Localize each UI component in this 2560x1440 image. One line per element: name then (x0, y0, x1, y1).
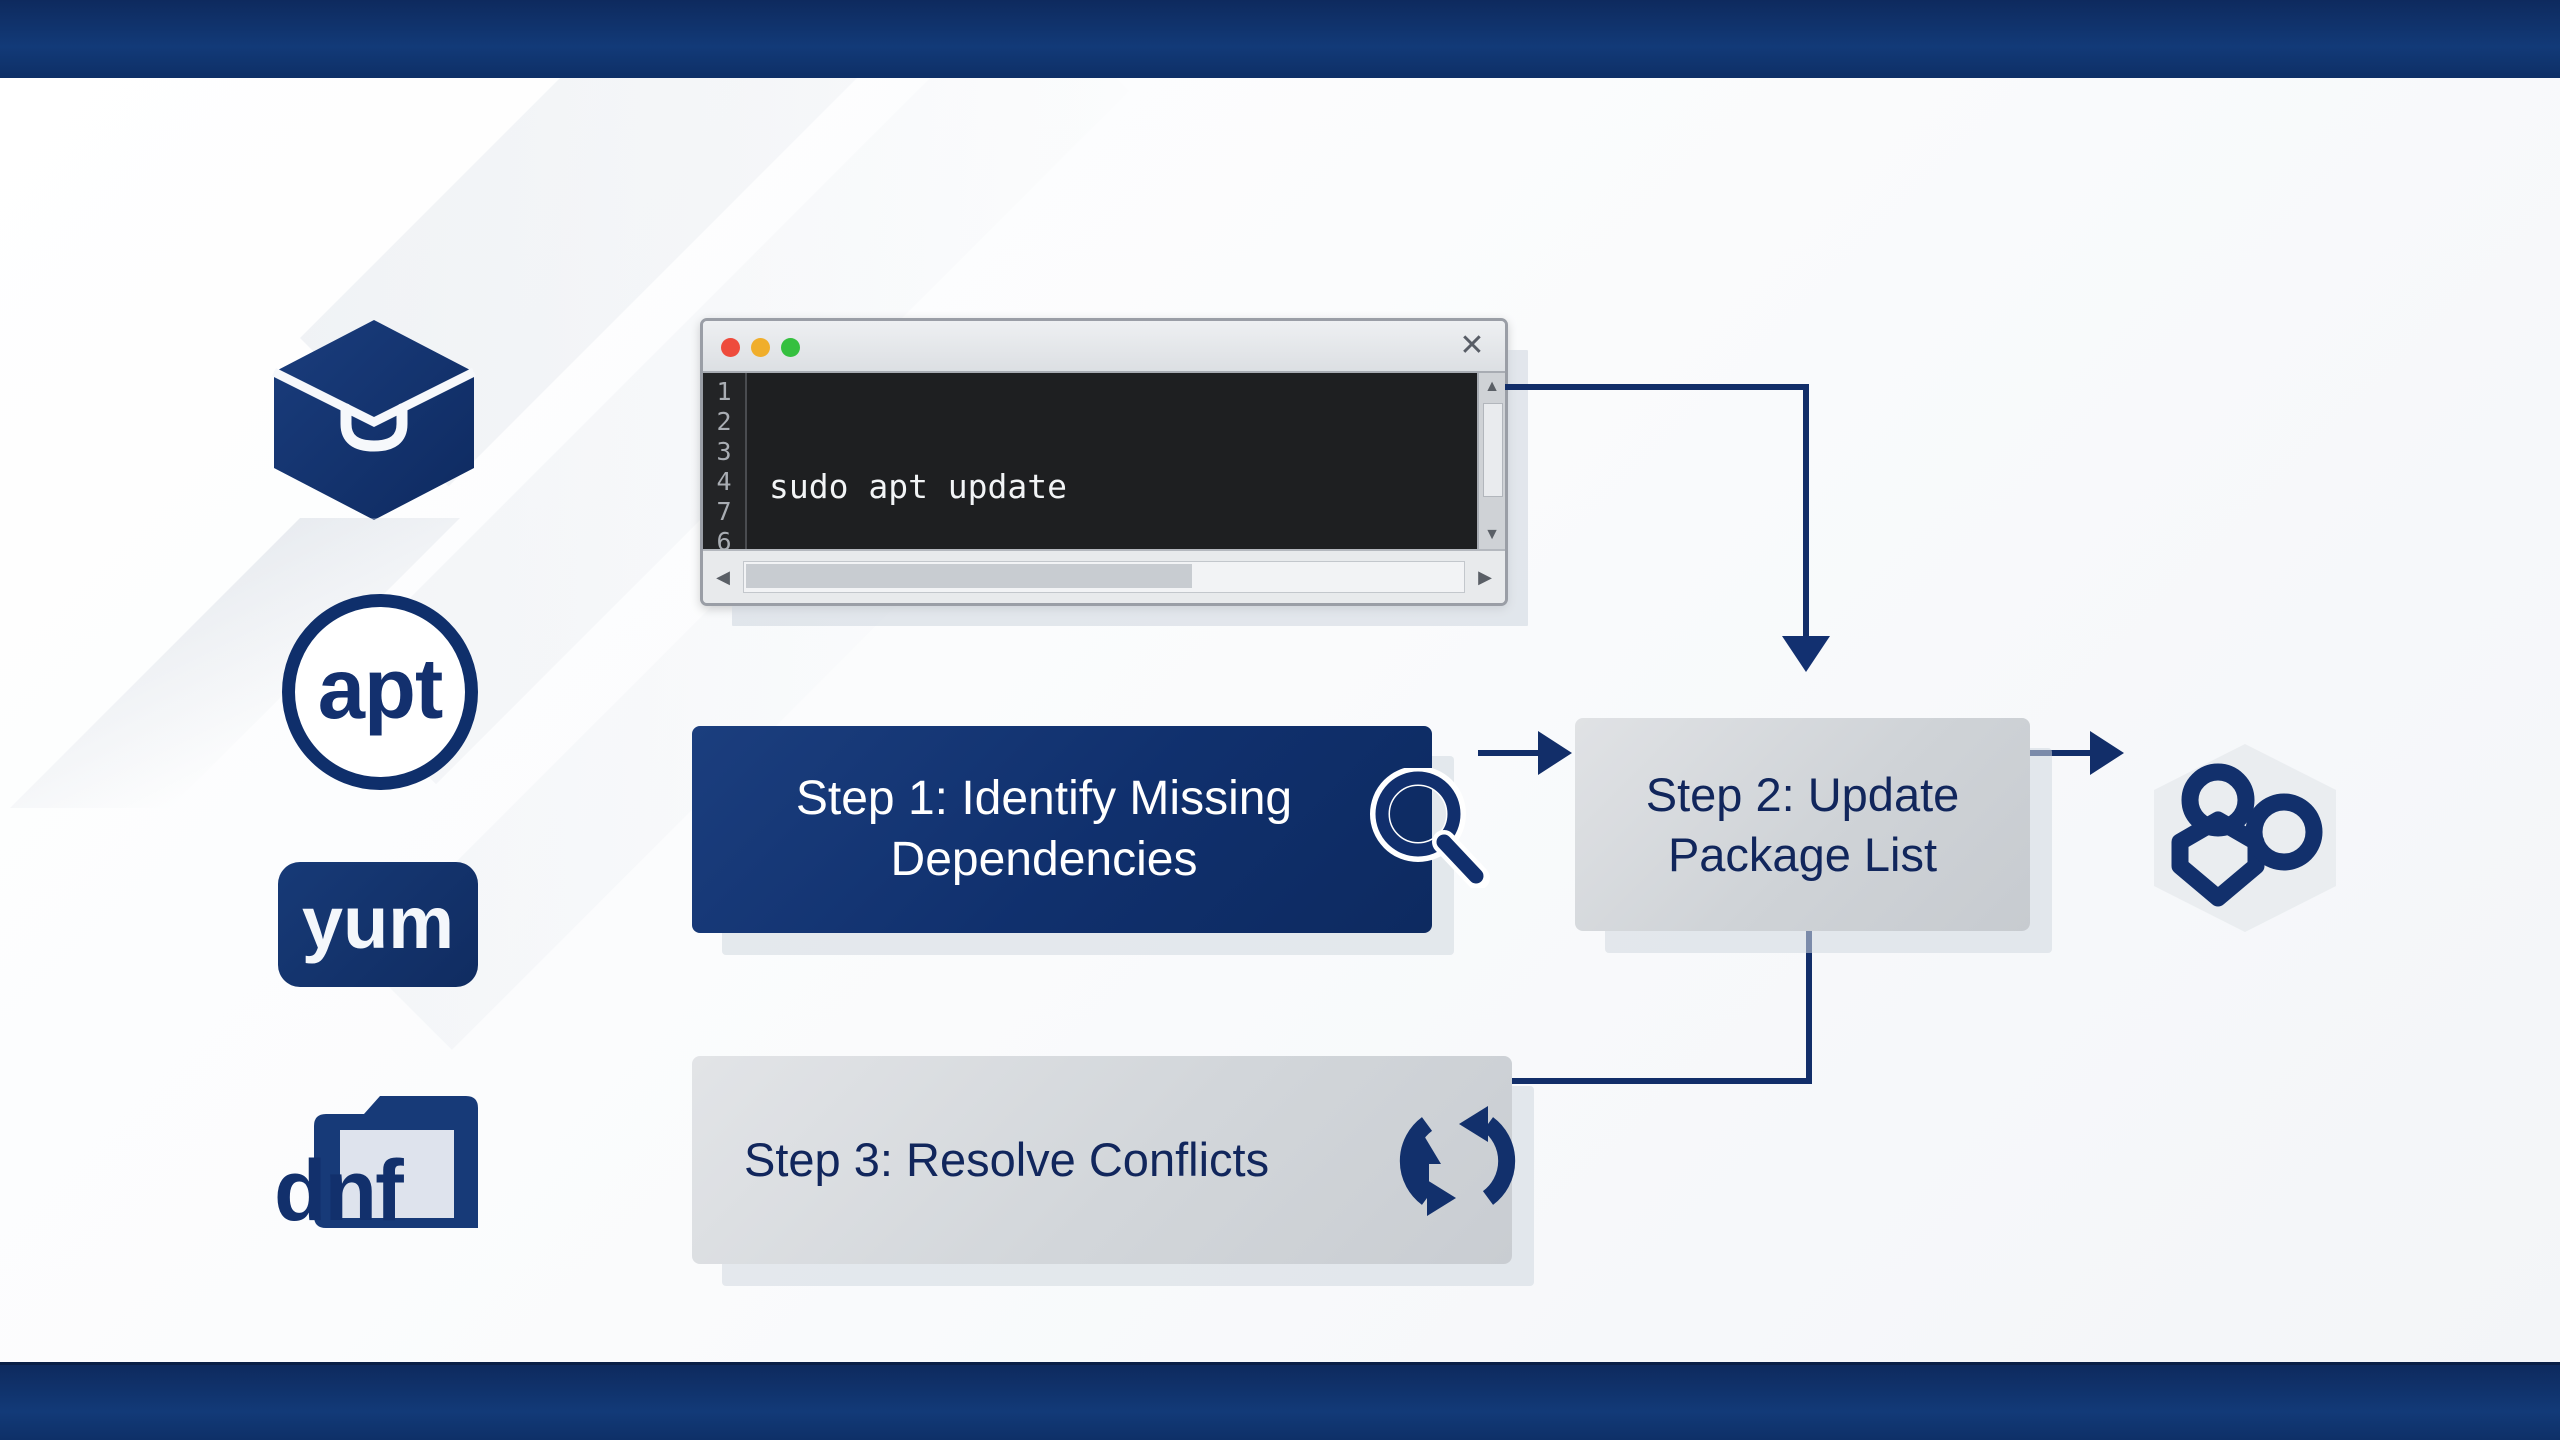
dnf-icon: dnf (268, 1078, 484, 1238)
step-3-label: Step 3: Resolve Conflicts (692, 1130, 1269, 1189)
terminal-window[interactable]: ✕ 1 2 3 4 7 6 sudo apt update sudo apt i… (700, 318, 1508, 606)
line-number: 1 (703, 377, 745, 407)
window-minimize-dot[interactable] (751, 338, 770, 357)
code-editor-area[interactable]: sudo apt update sudo apt install -f ) ) (747, 373, 1505, 549)
terminal-body: 1 2 3 4 7 6 sudo apt update sudo apt ins… (703, 373, 1505, 549)
connector-step3-to-step2-h (1510, 1078, 1812, 1084)
line-number: 6 (703, 527, 745, 549)
code-line-1: sudo apt update (769, 467, 1505, 507)
apt-label: apt (318, 647, 443, 732)
step-1-label: Step 1: Identify Missing Dependencies (692, 769, 1432, 890)
diagram-canvas: apt yum dnf ✕ 1 2 (0, 0, 2560, 1440)
bottom-band (0, 1362, 2560, 1440)
window-maximize-dot[interactable] (781, 338, 800, 357)
code-text: sudo apt update (769, 467, 1067, 506)
step-2-label: Step 2: Update Package List (1575, 765, 2030, 883)
vertical-scrollbar-thumb[interactable] (1483, 403, 1503, 497)
connector-terminal-to-step2-h (1505, 384, 1809, 390)
step-1-box[interactable]: Step 1: Identify Missing Dependencies (692, 726, 1432, 933)
line-number: 3 (703, 437, 745, 467)
scroll-up-icon[interactable]: ▲ (1479, 375, 1505, 399)
refresh-icon (1385, 1088, 1530, 1233)
dnf-label: dnf (274, 1148, 402, 1234)
magnifier-icon (1370, 768, 1490, 888)
line-number: 4 (703, 467, 745, 497)
vertical-scrollbar[interactable]: ▲ ▼ (1477, 373, 1505, 549)
step-2-box[interactable]: Step 2: Update Package List (1575, 718, 2030, 931)
package-box-icon (268, 316, 480, 524)
connector-terminal-to-step2-v (1803, 384, 1809, 642)
line-number-gutter: 1 2 3 4 7 6 (703, 373, 747, 549)
terminal-titlebar[interactable]: ✕ (703, 321, 1505, 373)
apt-icon: apt (282, 594, 478, 790)
scroll-right-icon[interactable]: ▶ (1465, 567, 1505, 588)
yum-icon: yum (278, 862, 478, 987)
scroll-down-icon[interactable]: ▼ (1479, 523, 1505, 547)
line-number: 2 (703, 407, 745, 437)
horizontal-scrollbar[interactable]: ◀ ▶ (703, 549, 1505, 603)
arrowhead-right-step2 (1538, 731, 1572, 775)
close-icon[interactable]: ✕ (1455, 329, 1489, 363)
arrowhead-right-users (2090, 731, 2124, 775)
users-group-icon (2140, 738, 2350, 938)
scroll-left-icon[interactable]: ◀ (703, 567, 743, 588)
arrowhead-down-step2 (1782, 636, 1830, 672)
line-number: 7 (703, 497, 745, 527)
content-area: apt yum dnf ✕ 1 2 (0, 78, 2560, 1362)
yum-label: yum (302, 886, 454, 960)
window-close-dot[interactable] (721, 338, 740, 357)
horizontal-scrollbar-track[interactable] (743, 561, 1465, 593)
top-band (0, 0, 2560, 81)
horizontal-scrollbar-thumb[interactable] (746, 564, 1192, 588)
